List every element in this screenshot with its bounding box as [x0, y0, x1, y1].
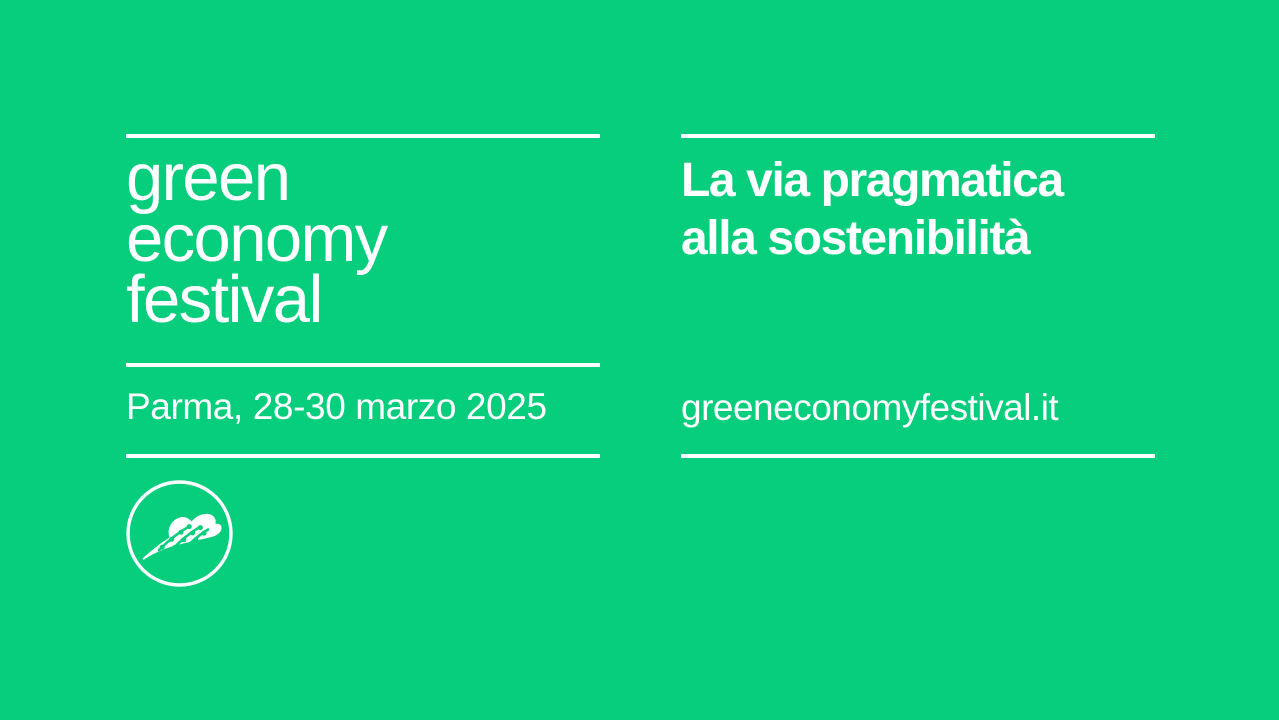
- right-column: La via pragmatica alla sostenibilità gre…: [681, 0, 1155, 720]
- divider-left-top: [126, 134, 600, 138]
- divider-right-bottom: [681, 454, 1155, 458]
- leaf-flag-circle-icon-svg: [126, 480, 233, 587]
- left-column: green economy festival Parma, 28-30 marz…: [126, 0, 600, 720]
- tagline-text: La via pragmatica alla sostenibilità: [681, 152, 1063, 268]
- divider-left-middle: [126, 363, 600, 367]
- festival-title: green economy festival: [126, 147, 387, 330]
- divider-right-top: [681, 134, 1155, 138]
- divider-left-bottom: [126, 454, 600, 458]
- website-url[interactable]: greeneconomyfestival.it: [681, 386, 1058, 430]
- date-location-text: Parma, 28-30 marzo 2025: [126, 385, 547, 429]
- event-poster: green economy festival Parma, 28-30 marz…: [0, 0, 1279, 720]
- leaf-flag-circle-icon: [126, 480, 233, 587]
